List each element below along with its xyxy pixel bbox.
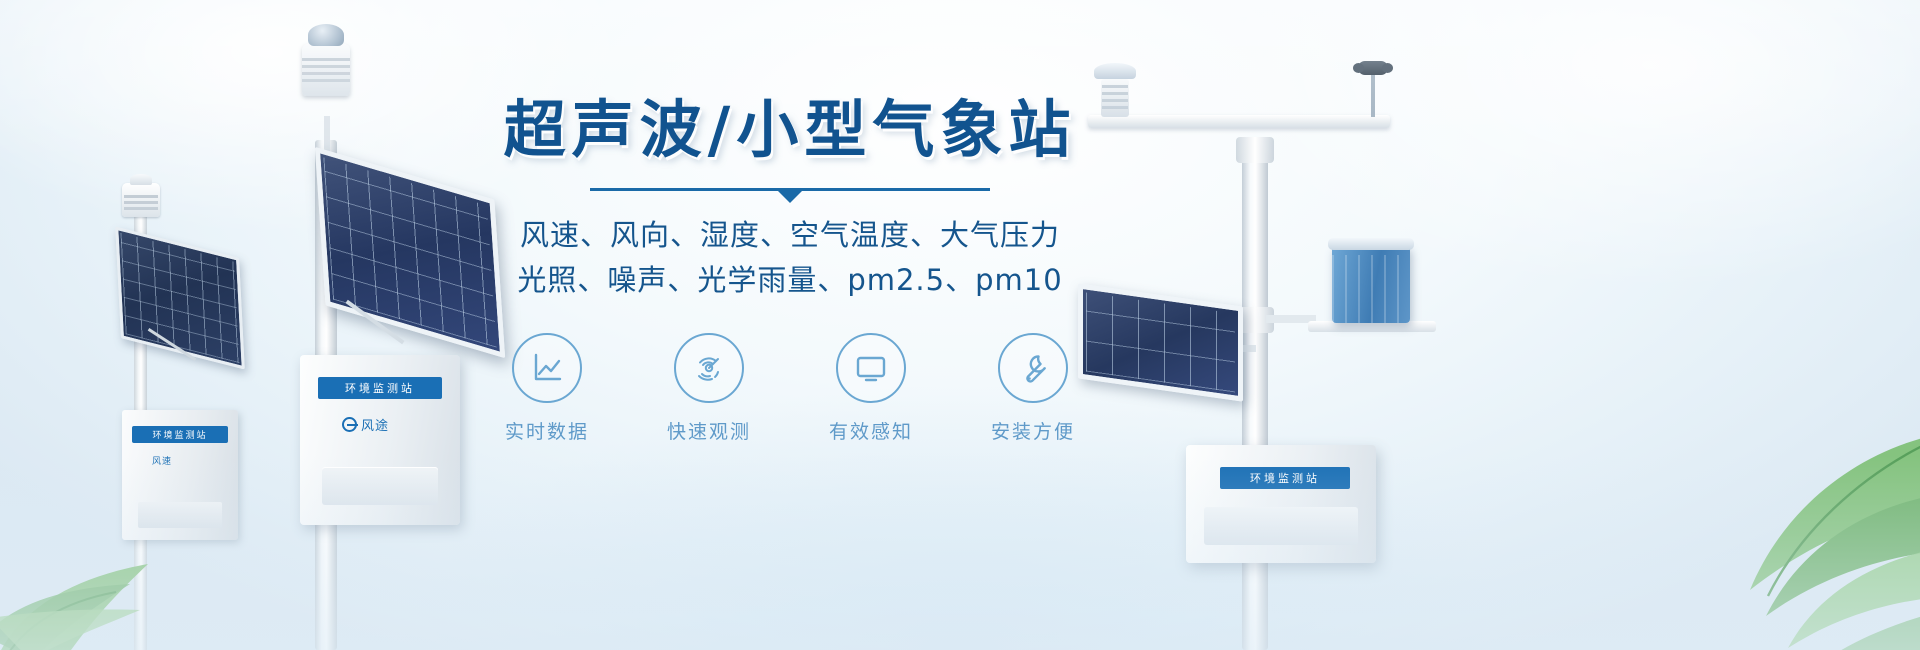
feature-item-effective-sensing[interactable]: 有效感知 bbox=[810, 333, 932, 444]
rain-gauge-icon bbox=[1332, 245, 1410, 323]
sensor-head-icon bbox=[122, 183, 160, 217]
subtitle-block: 风速、风向、湿度、空气温度、大气压力 光照、噪声、光学雨量、pm2.5、pm10 bbox=[440, 213, 1140, 303]
line-chart-icon bbox=[512, 333, 582, 403]
subtitle-line-1: 风速、风向、湿度、空气温度、大气压力 bbox=[440, 213, 1140, 258]
subtitle-line-2: 光照、噪声、光学雨量、pm2.5、pm10 bbox=[440, 258, 1140, 303]
monitor-screen-icon bbox=[836, 333, 906, 403]
ultrasonic-sensor-icon bbox=[302, 44, 350, 96]
title-divider bbox=[590, 188, 990, 191]
cabinet-tag-label: 环境监测站 bbox=[132, 426, 228, 443]
feature-label: 快速观测 bbox=[667, 417, 751, 444]
radar-signal-icon bbox=[674, 333, 744, 403]
wrench-icon bbox=[998, 333, 1068, 403]
palm-leaf-left-decoration bbox=[0, 460, 220, 650]
mast-pole bbox=[1242, 140, 1268, 650]
banner-content: 超声波/小型气象站 风速、风向、湿度、空气温度、大气压力 光照、噪声、光学雨量、… bbox=[440, 95, 1140, 444]
control-cabinet: 环境监测站 风途 bbox=[300, 355, 460, 525]
cabinet-brand: 风途 bbox=[342, 415, 389, 434]
anemometer-icon bbox=[1356, 55, 1390, 117]
page-title: 超声波/小型气象站 bbox=[440, 95, 1140, 164]
cabinet-vent bbox=[1204, 507, 1358, 545]
divider-triangle-icon bbox=[777, 190, 803, 203]
feature-item-realtime-data[interactable]: 实时数据 bbox=[486, 333, 608, 444]
palm-leaf-right-decoration bbox=[1600, 400, 1920, 650]
brand-mark-icon bbox=[342, 417, 357, 432]
feature-label: 有效感知 bbox=[829, 417, 913, 444]
mast-collar bbox=[1236, 137, 1274, 163]
cabinet-tag-label: 环境监测站 bbox=[318, 377, 442, 399]
feature-item-fast-observation[interactable]: 快速观测 bbox=[648, 333, 770, 444]
control-cabinet: 环境监测站 bbox=[1186, 445, 1376, 563]
cabinet-tag-label: 环境监测站 bbox=[1220, 467, 1350, 489]
feature-label: 实时数据 bbox=[505, 417, 589, 444]
feature-item-easy-install[interactable]: 安装方便 bbox=[972, 333, 1094, 444]
feature-label: 安装方便 bbox=[991, 417, 1075, 444]
cabinet-vent bbox=[322, 467, 438, 505]
cabinet-brand-label: 风途 bbox=[361, 415, 389, 434]
banner-stage: 环境监测站 风速 环境监测站 风途 bbox=[0, 0, 1920, 650]
feature-list: 实时数据 快速观测 bbox=[440, 333, 1140, 444]
